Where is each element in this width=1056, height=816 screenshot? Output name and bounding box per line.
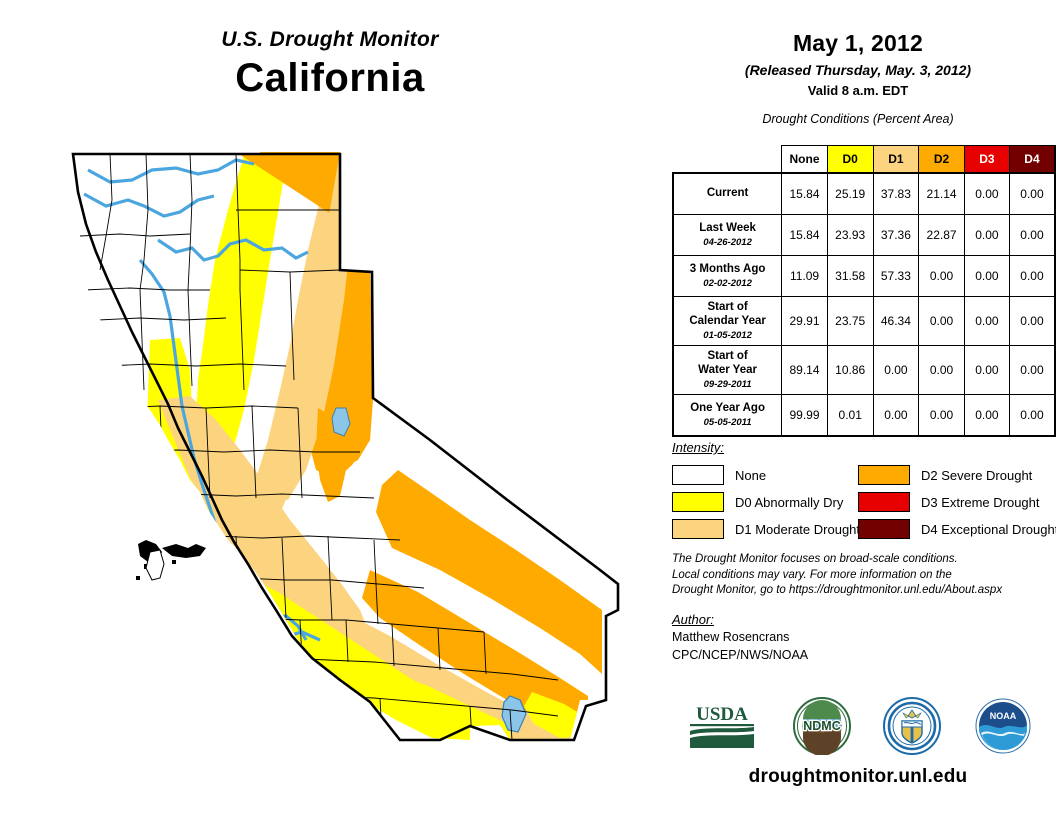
table-row: Last Week 04-26-2012 15.84 23.93 37.36 2… — [673, 215, 1055, 256]
col-header-d0: D0 — [827, 146, 873, 174]
legend-label-none: None — [735, 468, 766, 483]
author-name: Matthew Rosencrans — [672, 629, 1052, 645]
table-row: Start of Calendar Year 01-05-2012 29.91 … — [673, 297, 1055, 346]
intensity-legend: Intensity: None D0 Abnormally Dry D1 Mod… — [672, 440, 1052, 544]
table-row: 3 Months Ago 02-02-2012 11.09 31.58 57.3… — [673, 256, 1055, 297]
usda-logo[interactable]: USDA — [684, 700, 760, 752]
swatch-d4 — [858, 519, 910, 539]
table-body: Current 15.84 25.19 37.83 21.14 0.00 0.0… — [673, 173, 1055, 436]
legend-item-d0: D0 Abnormally Dry — [672, 490, 858, 514]
col-header-d4: D4 — [1009, 146, 1055, 174]
table-row: Start of Water Year 09-29-2011 89.14 10.… — [673, 345, 1055, 394]
row-label-3-months-ago: 3 Months Ago 02-02-2012 — [673, 256, 782, 297]
author-affiliation: CPC/NCEP/NWS/NOAA — [672, 647, 1052, 663]
cell-d3: 0.00 — [964, 345, 1009, 394]
cell-d4: 0.00 — [1009, 256, 1055, 297]
coastal-detail — [136, 540, 206, 580]
usdc-seal-logo[interactable] — [883, 697, 941, 755]
row-label-last-week: Last Week 04-26-2012 — [673, 215, 782, 256]
table-header-row: None D0 D1 D2 D3 D4 — [673, 146, 1055, 174]
ndmc-logo[interactable]: NDMC — [793, 697, 851, 755]
legend-column-right: D2 Severe Drought D3 Extreme Drought D4 … — [858, 463, 1056, 544]
title-block: U.S. Drought Monitor California — [0, 28, 660, 101]
drought-conditions-table: None D0 D1 D2 D3 D4 Current 15.84 25.19 … — [672, 145, 1056, 437]
ndmc-logo-text: NDMC — [803, 719, 841, 733]
legend-label-d2: D2 Severe Drought — [921, 468, 1032, 483]
cell-d3: 0.00 — [964, 297, 1009, 346]
noaa-logo-text: NOAA — [990, 711, 1017, 721]
col-header-d1: D1 — [873, 146, 919, 174]
legend-label-d0: D0 Abnormally Dry — [735, 495, 843, 510]
col-header-d2: D2 — [919, 146, 965, 174]
legend-label-d4: D4 Exceptional Drought — [921, 522, 1056, 537]
row-label-date: 09-29-2011 — [680, 379, 775, 390]
notes-line-1: The Drought Monitor focuses on broad-sca… — [672, 552, 1052, 568]
cell-d3: 0.00 — [964, 394, 1009, 436]
noaa-logo[interactable]: NOAA — [974, 697, 1032, 755]
cell-d4: 0.00 — [1009, 173, 1055, 215]
state-title: California — [0, 56, 660, 101]
row-label-start-water-year: Start of Water Year 09-29-2011 — [673, 345, 782, 394]
release-date: (Released Thursday, May. 3, 2012) — [660, 62, 1056, 78]
cell-d0: 10.86 — [827, 345, 873, 394]
map-svg — [40, 140, 660, 780]
cell-d2: 22.87 — [919, 215, 965, 256]
cell-d4: 0.00 — [1009, 345, 1055, 394]
cell-d1: 46.34 — [873, 297, 919, 346]
cell-d4: 0.00 — [1009, 215, 1055, 256]
cell-d2: 0.00 — [919, 345, 965, 394]
table-corner-cell — [673, 146, 782, 174]
cell-d1: 0.00 — [873, 394, 919, 436]
swatch-d0 — [672, 492, 724, 512]
swatch-none — [672, 465, 724, 485]
row-label-date: 04-26-2012 — [680, 237, 775, 248]
right-panel: May 1, 2012 (Released Thursday, May. 3, … — [660, 0, 1056, 816]
cell-d0: 25.19 — [827, 173, 873, 215]
legend-label-d1: D1 Moderate Drought — [735, 522, 860, 537]
cell-none: 29.91 — [782, 297, 828, 346]
notes-line-3: Drought Monitor, go to https://droughtmo… — [672, 583, 1052, 599]
swatch-d1 — [672, 519, 724, 539]
row-label-text: One Year Ago — [690, 402, 765, 414]
notes-line-2: Local conditions may vary. For more info… — [672, 568, 1052, 584]
legend-column-left: None D0 Abnormally Dry D1 Moderate Droug… — [672, 463, 858, 544]
cell-d0: 0.01 — [827, 394, 873, 436]
site-url[interactable]: droughtmonitor.unl.edu — [660, 766, 1056, 788]
program-title: U.S. Drought Monitor — [0, 28, 660, 52]
cell-none: 15.84 — [782, 173, 828, 215]
col-header-d3: D3 — [964, 146, 1009, 174]
cell-d2: 0.00 — [919, 394, 965, 436]
cell-none: 89.14 — [782, 345, 828, 394]
cell-d1: 37.36 — [873, 215, 919, 256]
cell-none: 99.99 — [782, 394, 828, 436]
legend-item-d3: D3 Extreme Drought — [858, 490, 1056, 514]
cell-d2: 21.14 — [919, 173, 965, 215]
row-label-text: 3 Months Ago — [690, 263, 766, 275]
intensity-title: Intensity: — [672, 440, 1052, 455]
row-label-start-calendar-year: Start of Calendar Year 01-05-2012 — [673, 297, 782, 346]
cell-d2: 0.00 — [919, 297, 965, 346]
logo-strip: USDA NDMC — [660, 690, 1056, 762]
cell-d4: 0.00 — [1009, 297, 1055, 346]
cell-d1: 57.33 — [873, 256, 919, 297]
row-label-date: 05-05-2011 — [680, 417, 775, 428]
cell-d3: 0.00 — [964, 173, 1009, 215]
col-header-none: None — [782, 146, 828, 174]
row-label-text: Last Week — [699, 222, 756, 234]
row-label-text: Current — [707, 187, 749, 199]
legend-label-d3: D3 Extreme Drought — [921, 495, 1040, 510]
table-caption: Drought Conditions (Percent Area) — [660, 112, 1056, 126]
swatch-d3 — [858, 492, 910, 512]
row-label-date: 01-05-2012 — [680, 330, 775, 341]
disclaimer-notes: The Drought Monitor focuses on broad-sca… — [672, 552, 1052, 599]
cell-d4: 0.00 — [1009, 394, 1055, 436]
row-label-text: Start of Calendar Year — [689, 301, 766, 327]
cell-none: 11.09 — [782, 256, 828, 297]
issue-date: May 1, 2012 — [660, 30, 1056, 57]
author-block: Author: Matthew Rosencrans CPC/NCEP/NWS/… — [672, 612, 1052, 664]
cell-d3: 0.00 — [964, 256, 1009, 297]
cell-none: 15.84 — [782, 215, 828, 256]
legend-item-d2: D2 Severe Drought — [858, 463, 1056, 487]
valid-time: Valid 8 a.m. EDT — [660, 83, 1056, 98]
legend-item-d4: D4 Exceptional Drought — [858, 517, 1056, 541]
row-label-text: Start of Water Year — [698, 350, 757, 376]
cell-d1: 37.83 — [873, 173, 919, 215]
row-label-current: Current — [673, 173, 782, 215]
legend-item-none: None — [672, 463, 858, 487]
cell-d0: 31.58 — [827, 256, 873, 297]
date-block: May 1, 2012 (Released Thursday, May. 3, … — [660, 0, 1056, 98]
cell-d0: 23.75 — [827, 297, 873, 346]
row-label-date: 02-02-2012 — [680, 278, 775, 289]
table-row: Current 15.84 25.19 37.83 21.14 0.00 0.0… — [673, 173, 1055, 215]
cell-d0: 23.93 — [827, 215, 873, 256]
cell-d3: 0.00 — [964, 215, 1009, 256]
author-title: Author: — [672, 612, 1052, 627]
swatch-d2 — [858, 465, 910, 485]
cell-d2: 0.00 — [919, 256, 965, 297]
none-region-socal-coast — [400, 740, 460, 766]
usda-logo-text: USDA — [696, 704, 748, 725]
cell-d1: 0.00 — [873, 345, 919, 394]
table-row: One Year Ago 05-05-2011 99.99 0.01 0.00 … — [673, 394, 1055, 436]
legend-item-d1: D1 Moderate Drought — [672, 517, 858, 541]
california-drought-map[interactable] — [40, 140, 660, 780]
row-label-one-year-ago: One Year Ago 05-05-2011 — [673, 394, 782, 436]
drought-polygons — [40, 140, 660, 780]
